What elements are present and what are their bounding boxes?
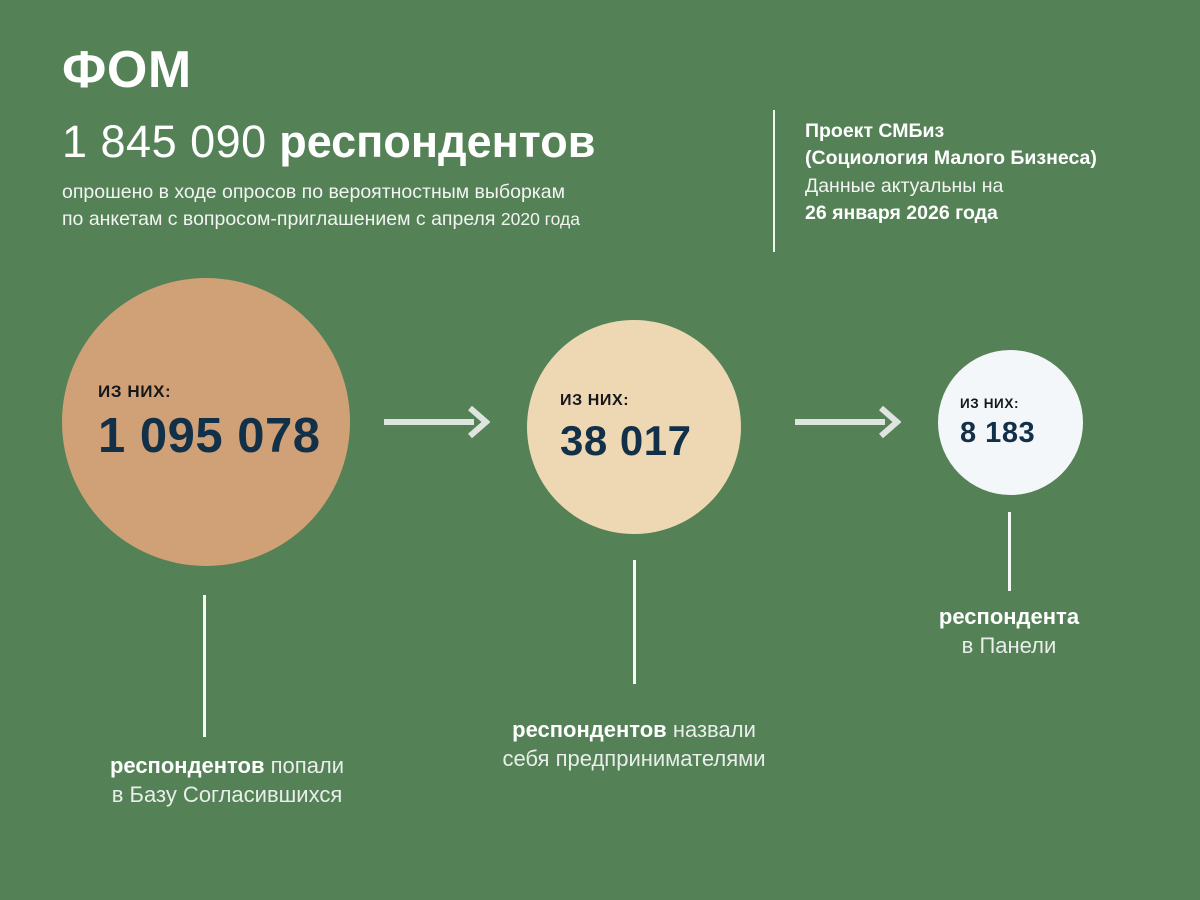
caption-stage-2: респондентов назвали себя предпринимател… xyxy=(474,716,794,773)
header-left-block: ФОМ 1 845 090 респондентов опрошено в хо… xyxy=(62,44,752,234)
funnel-value-stage-2: 38 017 xyxy=(560,420,741,462)
subheadline-line-1: опрошено в ходе опросов по вероятностным… xyxy=(62,179,752,207)
caption-stage-2-line-2: себя предпринимателями xyxy=(474,745,794,774)
funnel-eyebrow-stage-2: ИЗ НИХ: xyxy=(560,393,741,409)
funnel-eyebrow-stage-1: ИЗ НИХ: xyxy=(98,383,350,400)
funnel-circle-stage-2: ИЗ НИХ: 38 017 xyxy=(527,320,741,534)
headline-word: респондентов xyxy=(279,116,595,167)
subheadline-line-2-year: 2020 года xyxy=(501,209,580,229)
caption-stage-1-line-2: в Базу Согласившихся xyxy=(62,781,392,810)
subheadline-line-2-main: по анкетам с вопросом-приглашением с апр… xyxy=(62,208,495,230)
caption-stage-3: респондента в Панели xyxy=(895,603,1123,660)
funnel-circle-stage-3: ИЗ НИХ: 8 183 xyxy=(938,350,1083,495)
header-right-block: Проект СМБиз (Социология Малого Бизнеса)… xyxy=(805,118,1185,227)
funnel-eyebrow-stage-3: ИЗ НИХ: xyxy=(960,397,1083,411)
data-asof-date: 26 января 2026 года xyxy=(805,200,1185,227)
caption-stage-1-bold: респондентов xyxy=(110,753,265,778)
funnel-circle-stage-1: ИЗ НИХ: 1 095 078 xyxy=(62,278,350,566)
header-vertical-divider xyxy=(773,110,775,252)
infographic-canvas: ФОМ 1 845 090 респондентов опрошено в хо… xyxy=(0,0,1200,900)
caption-stage-1-line-1: респондентов попали xyxy=(62,752,392,781)
project-name-line-1: Проект СМБиз xyxy=(805,118,1185,145)
connector-line-stage-3 xyxy=(1008,512,1011,591)
funnel-value-stage-3: 8 183 xyxy=(960,419,1083,448)
arrow-right-icon-1 xyxy=(382,402,490,442)
data-asof-label: Данные актуальны на xyxy=(805,173,1185,200)
caption-stage-3-bold: респондента xyxy=(939,604,1079,629)
headline: 1 845 090 респондентов xyxy=(62,118,752,167)
caption-stage-2-rest: назвали xyxy=(667,717,756,742)
caption-stage-2-line-1: респондентов назвали xyxy=(474,716,794,745)
arrow-right-icon-2 xyxy=(793,402,901,442)
funnel-value-stage-1: 1 095 078 xyxy=(98,412,350,461)
subheadline-line-2: по анкетам с вопросом-приглашением с апр… xyxy=(62,206,752,234)
caption-stage-3-line-1: респондента xyxy=(895,603,1123,632)
subheadline: опрошено в ходе опросов по вероятностным… xyxy=(62,179,752,234)
caption-stage-3-line-2: в Панели xyxy=(895,632,1123,661)
connector-line-stage-2 xyxy=(633,560,636,684)
connector-line-stage-1 xyxy=(203,595,206,737)
caption-stage-1-rest: попали xyxy=(265,753,345,778)
brand-title: ФОМ xyxy=(62,44,752,96)
caption-stage-1: респондентов попали в Базу Согласившихся xyxy=(62,752,392,809)
caption-stage-2-bold: респондентов xyxy=(512,717,667,742)
project-name-line-2: (Социология Малого Бизнеса) xyxy=(805,145,1185,172)
headline-number: 1 845 090 xyxy=(62,116,267,167)
